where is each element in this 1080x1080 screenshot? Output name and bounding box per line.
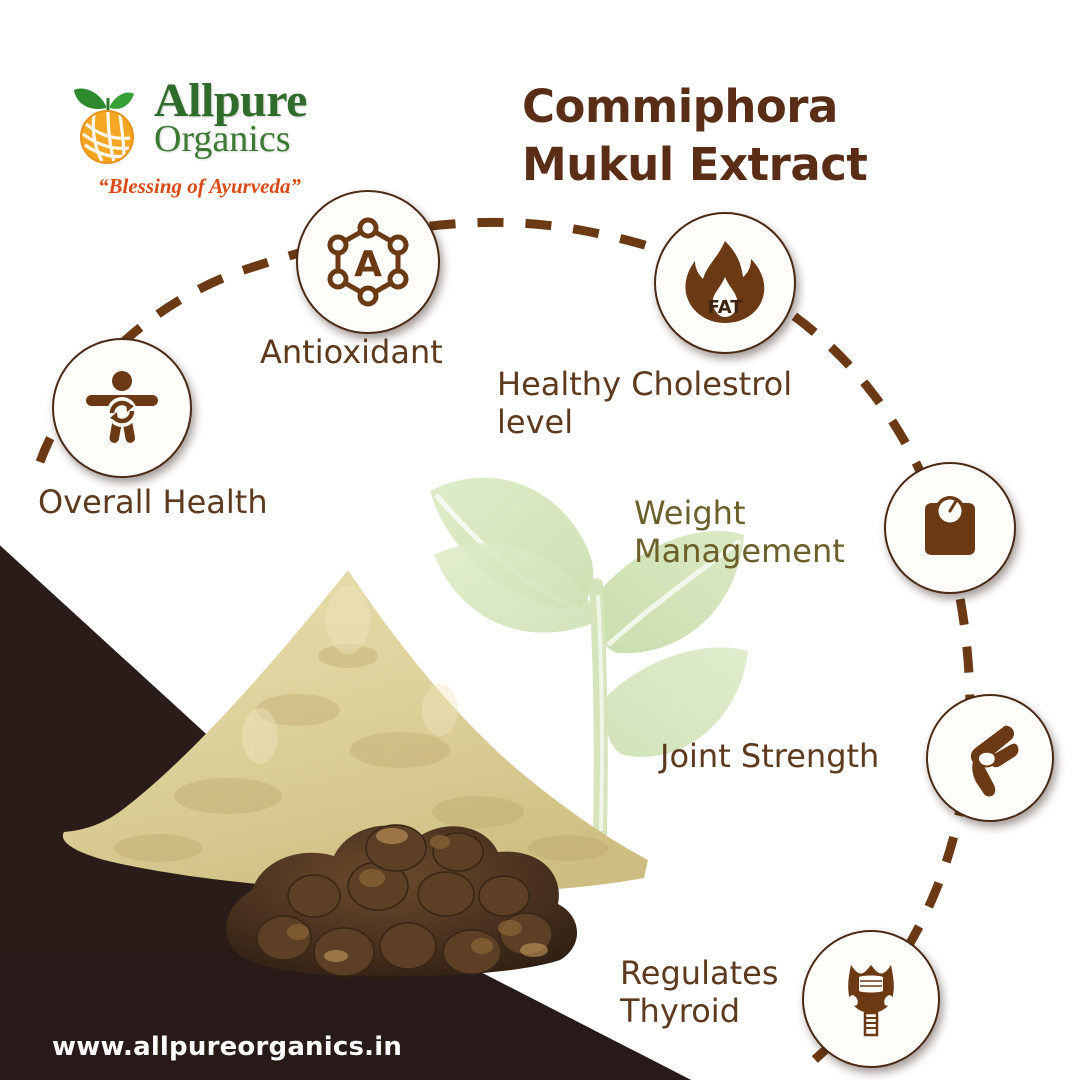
benefit-node-regulates-thyroid[interactable]: [802, 930, 940, 1068]
thyroid-gland-icon: [829, 957, 913, 1041]
brand-name-line1: Allpure: [154, 78, 307, 124]
knee-joint-bone-icon: [950, 718, 1030, 798]
infographic-canvas: Allpure Organics “Blessing of Ayurveda” …: [0, 0, 1080, 1080]
benefit-label-antioxidant: Antioxidant: [260, 334, 443, 372]
brand-name: Allpure Organics: [154, 78, 307, 158]
svg-text:FAT: FAT: [707, 297, 743, 318]
benefit-node-healthy-cholestrol[interactable]: FAT: [654, 212, 796, 354]
benefit-label-joint-strength: Joint Strength: [660, 738, 879, 776]
brand-name-line2: Organics: [154, 120, 307, 158]
website-url[interactable]: www.allpureorganics.in: [52, 1032, 402, 1062]
benefit-node-overall-health[interactable]: [52, 338, 192, 478]
person-wellness-icon: [79, 365, 165, 451]
benefit-label-weight-management: Weight Management: [634, 495, 845, 571]
benefit-label-regulates-thyroid: Regulates Thyroid: [620, 955, 778, 1031]
benefit-node-antioxidant[interactable]: A: [296, 190, 440, 334]
svg-text:A: A: [354, 244, 382, 285]
molecule-hexagon-a-icon: A: [322, 216, 414, 308]
brand-logo[interactable]: Allpure Organics “Blessing of Ayurveda”: [68, 72, 338, 192]
page-title: Commiphora Mukul Extract: [522, 78, 1002, 193]
brand-tagline: “Blessing of Ayurveda”: [98, 174, 301, 199]
orange-fruit-with-leaves-icon: [68, 84, 146, 166]
fat-flame-icon: FAT: [679, 237, 771, 329]
benefit-node-weight-management[interactable]: [884, 462, 1016, 594]
benefit-label-healthy-cholestrol: Healthy Cholestrol level: [497, 366, 792, 442]
benefit-node-joint-strength[interactable]: [926, 694, 1054, 822]
product-photo: [48, 560, 668, 980]
benefit-label-overall-health: Overall Health: [38, 484, 268, 522]
weight-scale-icon: [909, 487, 991, 569]
